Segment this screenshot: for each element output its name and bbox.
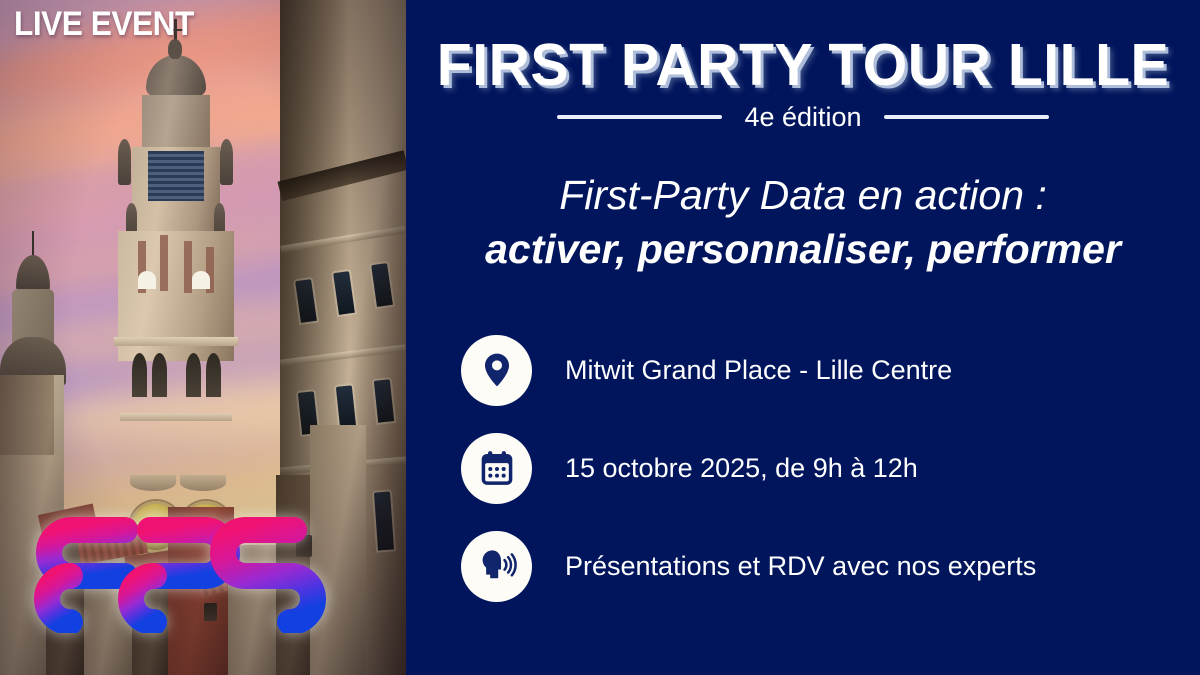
calendar-glyph [477,448,517,488]
logo-letter-s [223,530,313,622]
info-row-sessions: Présentations et RDV avec nos experts [461,528,1036,604]
arch-window [206,353,221,397]
arch-window [132,353,147,397]
info-row-location: Mitwit Grand Place - Lille Centre [461,332,1036,408]
edition-label: 4e édition [744,100,861,134]
brick-band [160,235,168,291]
brick-band [184,241,192,293]
calendar-icon [461,433,532,504]
louvre-window [148,151,204,201]
pinnacle [220,139,233,185]
event-banner: LIVE EVENT [0,0,1200,675]
lille-belfry-sunset-photo: LIVE EVENT [0,0,406,675]
page-title: FIRST PARTY TOUR LILLE [418,32,1188,98]
speaking-head-icon [461,531,532,602]
rule-right [884,115,1049,119]
speaking-head-glyph [476,545,518,587]
subtitle: First-Party Data en action : activer, pe… [406,168,1200,276]
content-panel: FIRST PARTY TOUR LILLE 4e édition First-… [406,0,1200,675]
arch-window [152,353,167,397]
tower-upper-stage [142,95,210,153]
subtitle-line-1: First-Party Data en action : [406,168,1200,222]
pinnacle [118,139,131,185]
location-pin-icon [461,335,532,406]
info-row-date: 15 octobre 2025, de 9h à 12h [461,430,1036,506]
live-event-badge: LIVE EVENT [14,4,194,44]
subtitle-line-2: activer, personnaliser, performer [406,222,1200,276]
info-text-date: 15 octobre 2025, de 9h à 12h [565,451,918,485]
cornice [114,337,238,346]
info-text-location: Mitwit Grand Place - Lille Centre [565,353,952,387]
rule-left [557,115,722,119]
arch-window [186,353,201,397]
location-pin-glyph [477,350,517,390]
edition-row: 4e édition [406,100,1200,134]
info-text-sessions: Présentations et RDV avec nos experts [565,549,1036,583]
window [192,271,210,289]
fps-logo [32,513,332,633]
window [138,271,156,289]
info-list: Mitwit Grand Place - Lille Centre [461,332,1036,604]
